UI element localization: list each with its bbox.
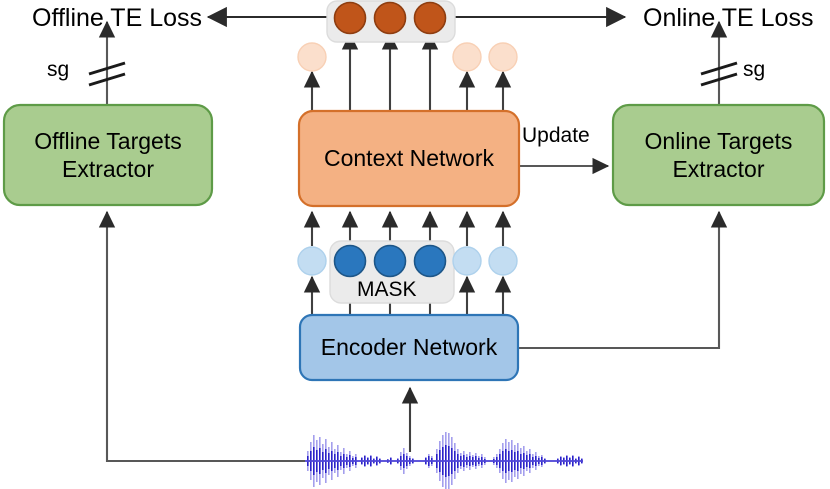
encoder-token-0: [298, 247, 326, 275]
context-network-label: Context Network: [299, 111, 519, 206]
context-token-3: [415, 3, 446, 34]
offline-targets-extractor-label: Offline Targets Extractor: [4, 105, 212, 205]
update-label: Update: [522, 124, 590, 148]
diagram-canvas: Offline TE Loss Online TE Loss sg sg Upd…: [0, 0, 830, 489]
encoder-token-5: [489, 247, 517, 275]
online-te-loss-label: Online TE Loss: [643, 4, 813, 33]
mask-label: MASK: [357, 278, 417, 302]
encoder-token-4: [453, 247, 481, 275]
sg-label-right: sg: [743, 58, 765, 82]
context-token-5: [489, 43, 517, 71]
encoder-token-1-masked: [335, 246, 366, 277]
online-extractor-line-1: Online Targets: [645, 128, 793, 154]
context-token-2: [375, 3, 406, 34]
encoder-network-label: Encoder Network: [300, 315, 518, 380]
encoder-token-2-masked: [375, 246, 406, 277]
encoder-token-3-masked: [415, 246, 446, 277]
diagram-vector-layer: [0, 0, 830, 489]
sg-label-left: sg: [47, 58, 69, 82]
context-token-4: [453, 43, 481, 71]
context-token-1: [335, 3, 366, 34]
offline-extractor-line-1: Offline Targets: [34, 128, 181, 154]
context-token-0: [298, 43, 326, 71]
encoder-to-online-extractor-arrow: [518, 212, 719, 348]
waveform-to-offline-extractor-arrow: [107, 212, 305, 461]
offline-te-loss-label: Offline TE Loss: [32, 4, 202, 33]
offline-extractor-line-2: Extractor: [62, 156, 154, 182]
online-targets-extractor-label: Online Targets Extractor: [613, 105, 824, 205]
online-extractor-line-2: Extractor: [672, 156, 764, 182]
audio-waveform: [305, 432, 583, 489]
